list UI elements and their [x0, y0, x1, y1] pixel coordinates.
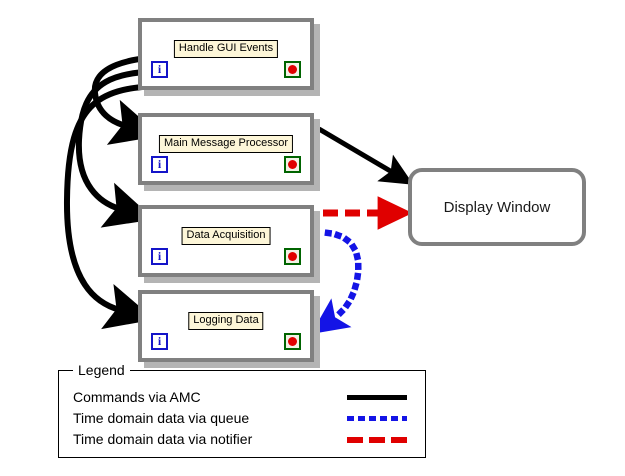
process-title: Handle GUI Events: [174, 40, 278, 58]
stop-dot: [288, 160, 297, 169]
process-title: Main Message Processor: [159, 135, 293, 153]
legend-rows: Commands via AMC Time domain data via qu…: [73, 387, 417, 450]
display-window-box[interactable]: Display Window: [408, 168, 586, 246]
process-box-handle-gui-events[interactable]: Handle GUI Events i: [138, 18, 314, 90]
stop-icon[interactable]: [284, 333, 301, 350]
process-box-data-acquisition[interactable]: Data Acquisition i: [138, 205, 314, 277]
legend-line-sample-solid: [347, 395, 407, 400]
legend-line-sample-dotted: [347, 416, 407, 421]
legend-row: Commands via AMC: [73, 387, 417, 408]
legend-label: Time domain data via queue: [73, 408, 249, 429]
stop-icon[interactable]: [284, 248, 301, 265]
stop-dot: [288, 252, 297, 261]
process-title: Logging Data: [188, 312, 263, 330]
legend-row: Time domain data via notifier: [73, 429, 417, 450]
process-box-main-message-processor[interactable]: Main Message Processor i: [138, 113, 314, 185]
diagram-canvas: Handle GUI Events i Main Message Process…: [0, 0, 625, 476]
legend-line-sample-dashed: [347, 437, 407, 443]
edge-display-to-logging: [328, 233, 358, 318]
process-title: Data Acquisition: [182, 227, 271, 245]
legend-title: Legend: [73, 362, 130, 378]
info-icon[interactable]: i: [151, 333, 168, 350]
stop-dot: [288, 337, 297, 346]
legend-label: Time domain data via notifier: [73, 429, 252, 450]
legend-label: Commands via AMC: [73, 387, 201, 408]
info-icon[interactable]: i: [151, 156, 168, 173]
info-icon[interactable]: i: [151, 248, 168, 265]
stop-dot: [288, 65, 297, 74]
stop-icon[interactable]: [284, 156, 301, 173]
info-icon[interactable]: i: [151, 61, 168, 78]
process-box-logging-data[interactable]: Logging Data i: [138, 290, 314, 362]
display-window-label: Display Window: [444, 199, 551, 216]
stop-icon[interactable]: [284, 61, 301, 78]
legend-row: Time domain data via queue: [73, 408, 417, 429]
edge-main-to-display: [319, 129, 392, 172]
legend: Legend Commands via AMC Time domain data…: [58, 370, 426, 458]
